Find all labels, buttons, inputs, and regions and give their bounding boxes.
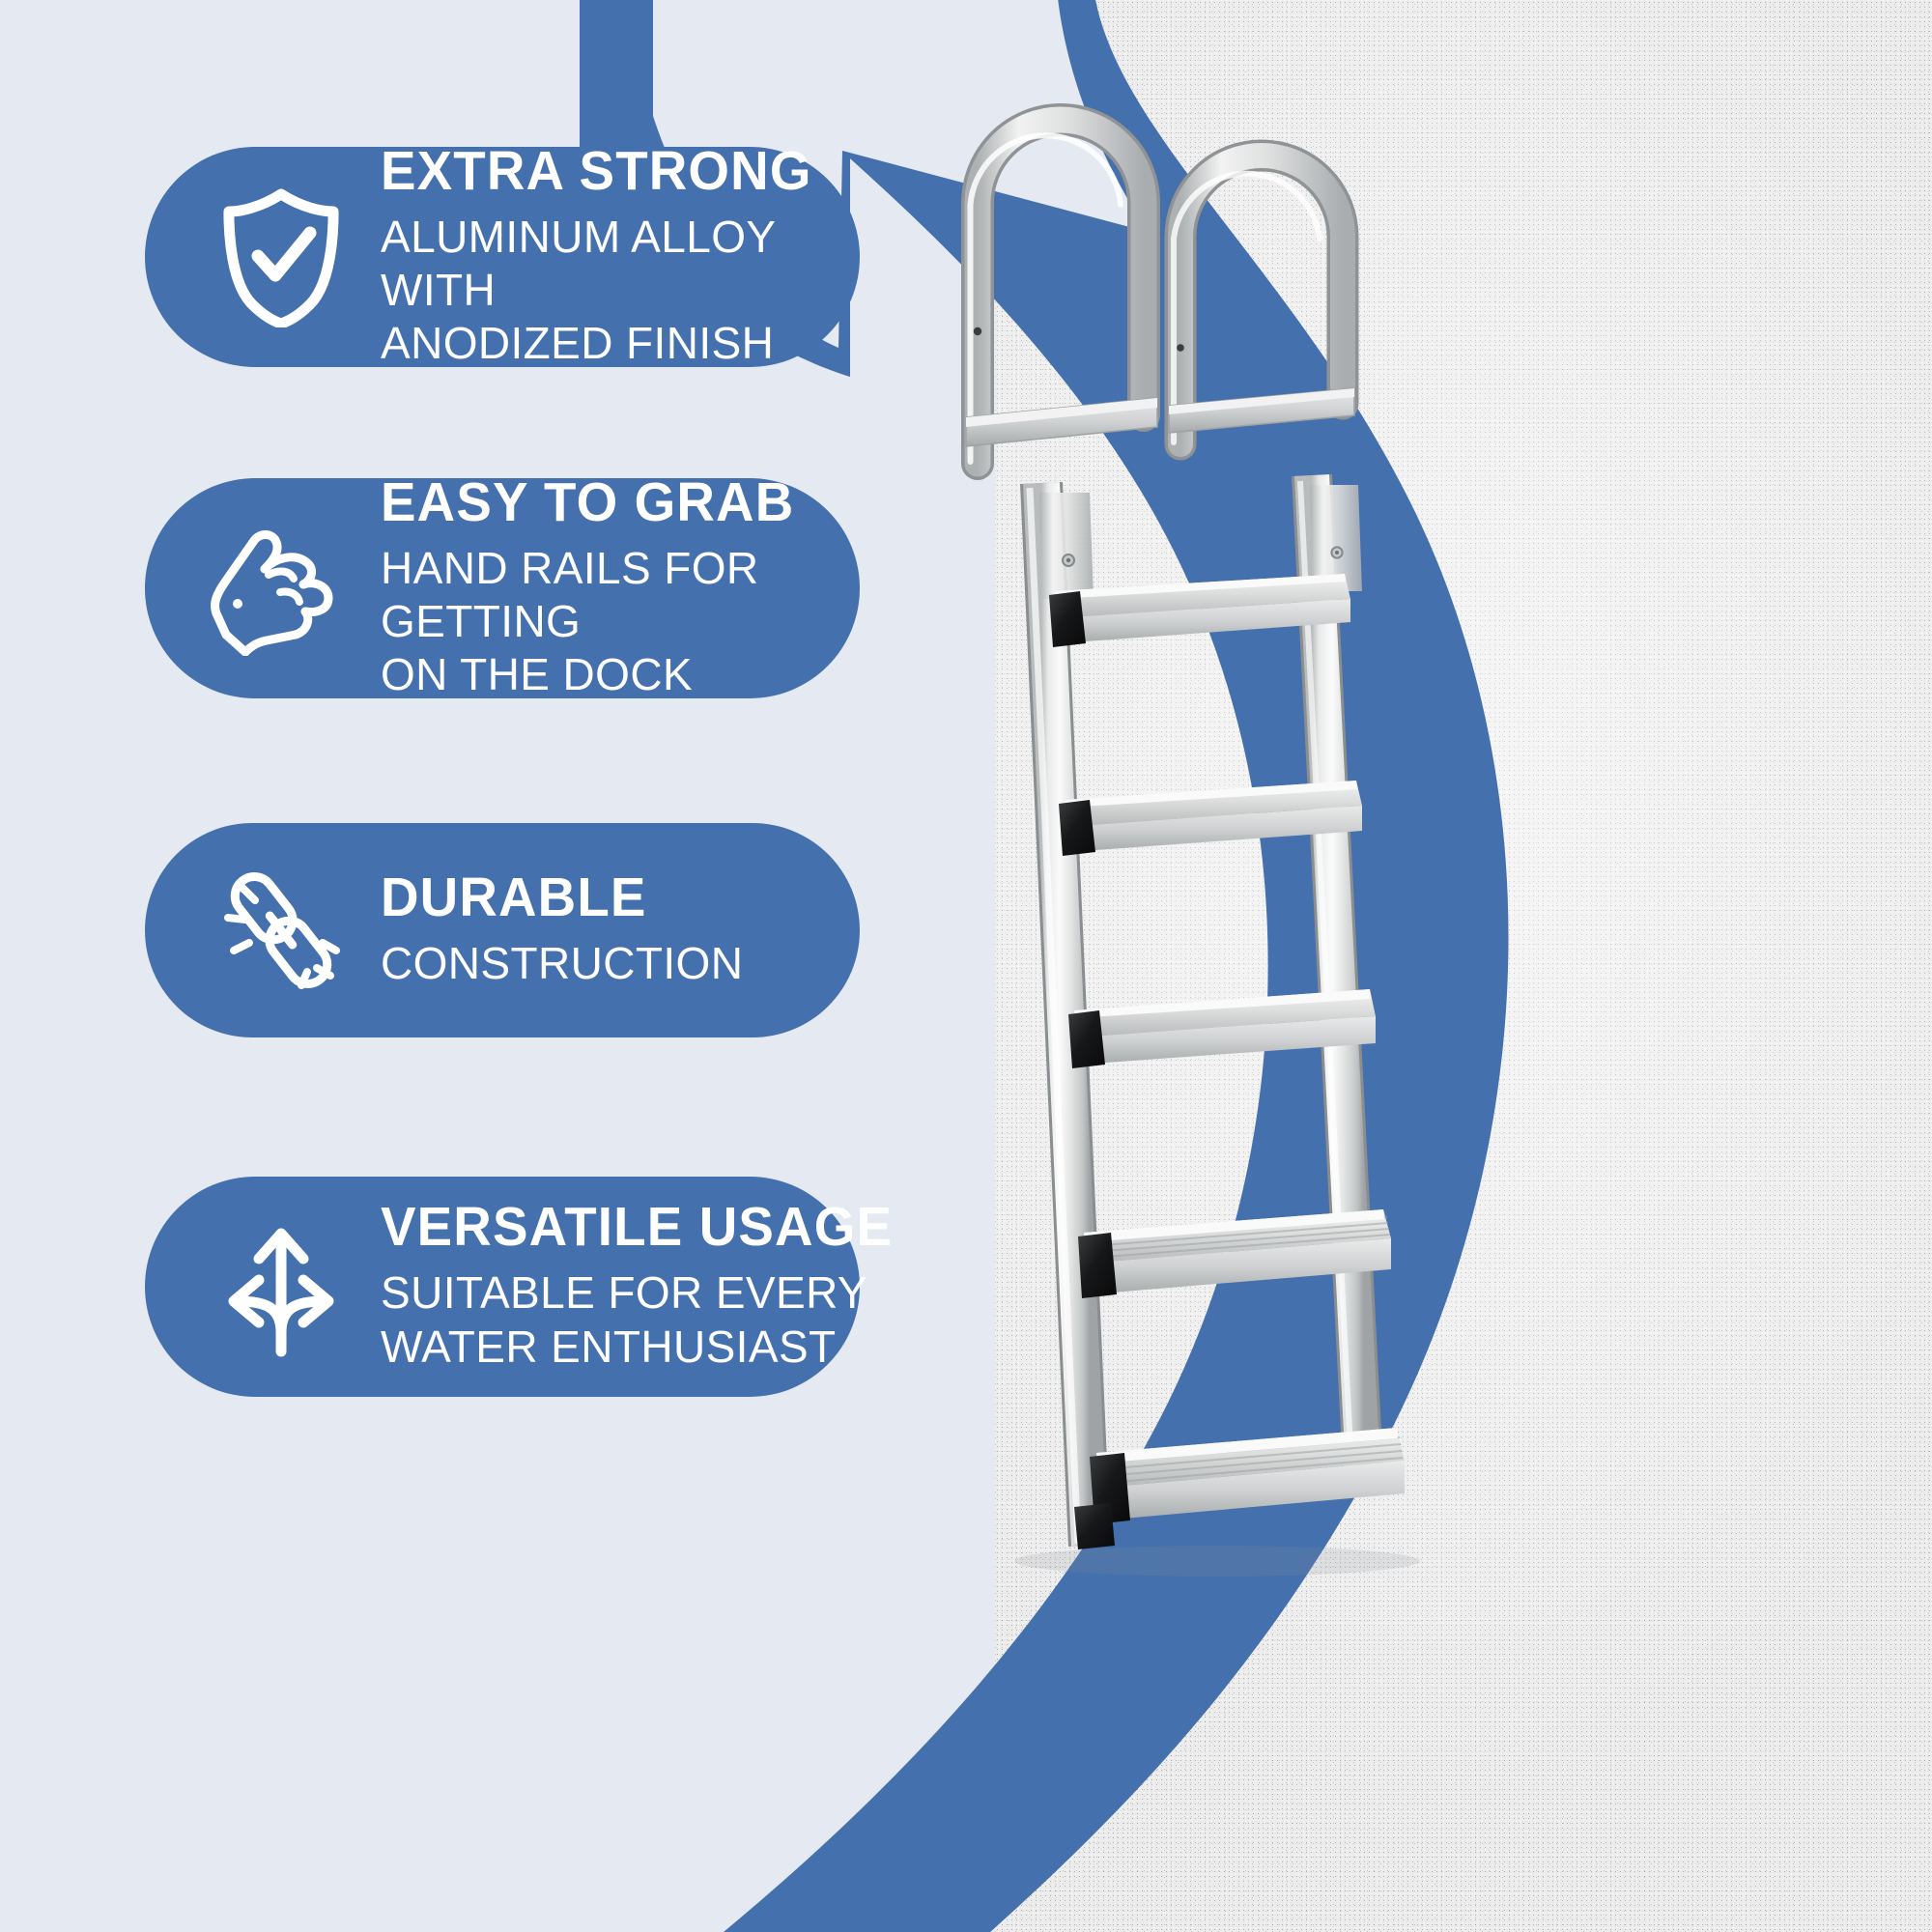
three-way-arrow-icon — [209, 1214, 354, 1359]
feature-subtitle: CONSTRUCTION — [381, 937, 743, 990]
handrail-left — [966, 120, 1157, 464]
feature-pill-versatile-usage[interactable]: VERSATILE USAGE SUITABLE FOR EVERY WATER… — [145, 1177, 860, 1397]
feature-pill-durable[interactable]: DURABLE CONSTRUCTION — [145, 823, 860, 1037]
ladder-side-rail-right — [1300, 475, 1364, 1488]
feature-title: EXTRA STRONG — [381, 144, 812, 199]
feature-title: VERSATILE USAGE — [381, 1200, 893, 1255]
feature-text-block: DURABLE CONSTRUCTION — [381, 870, 743, 990]
feature-text-block: VERSATILE USAGE SUITABLE FOR EVERY WATER… — [381, 1200, 914, 1373]
feature-subtitle: SUITABLE FOR EVERY WATER ENTHUSIAST — [381, 1266, 914, 1373]
hand-grab-icon — [209, 516, 354, 661]
chain-link-icon — [209, 858, 354, 1003]
ladder-step — [1074, 1428, 1405, 1549]
handrail-right — [1169, 156, 1354, 444]
feature-text-block: EASY TO GRAB HAND RAILS FOR GETTING ON T… — [381, 475, 815, 702]
feature-subtitle: ALUMINUM ALLOY WITH ANODIZED FINISH — [381, 211, 830, 371]
feature-title: DURABLE — [381, 870, 728, 925]
infographic-canvas: EXTRA STRONG ALUMINUM ALLOY WITH ANODIZE… — [0, 0, 1932, 1932]
feature-pill-extra-strong[interactable]: EXTRA STRONG ALUMINUM ALLOY WITH ANODIZE… — [145, 147, 860, 367]
shield-check-icon — [209, 185, 354, 329]
feature-text-block: EXTRA STRONG ALUMINUM ALLOY WITH ANODIZE… — [381, 144, 830, 371]
product-image-dock-ladder — [927, 58, 1932, 1932]
feature-subtitle: HAND RAILS FOR GETTING ON THE DOCK — [381, 542, 815, 702]
feature-pill-easy-to-grab[interactable]: EASY TO GRAB HAND RAILS FOR GETTING ON T… — [145, 478, 860, 698]
feature-title: EASY TO GRAB — [381, 475, 798, 530]
